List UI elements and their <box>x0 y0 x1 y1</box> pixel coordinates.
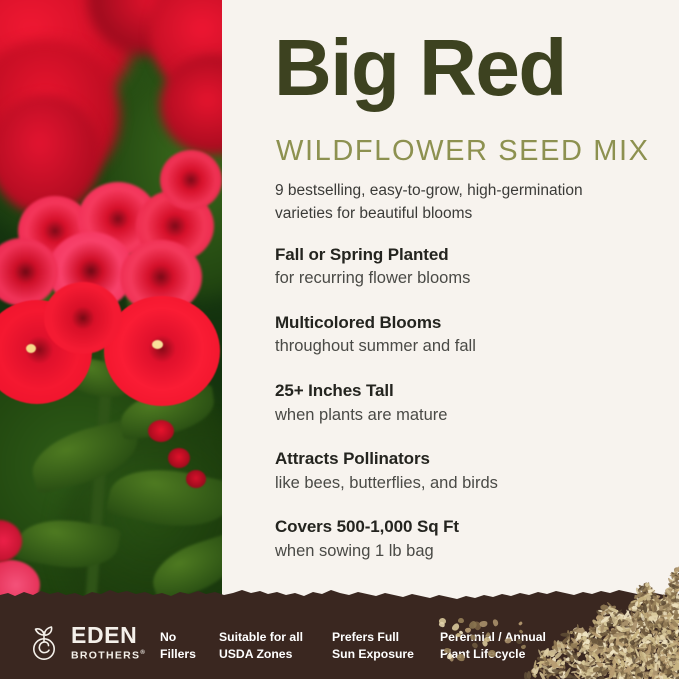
page-title: Big Red <box>274 28 566 108</box>
badge-line-2: USDA Zones <box>219 646 303 663</box>
logo-primary-text: EDEN <box>71 624 146 647</box>
feature-heading: Multicolored Blooms <box>275 312 655 334</box>
sprout-icon <box>24 622 64 662</box>
product-photo-phlox <box>0 0 222 610</box>
badge-line-1: Prefers Full <box>332 629 414 646</box>
feature-subtext: when plants are mature <box>275 404 655 426</box>
footer-badge-sun-exposure: Prefers Full Sun Exposure <box>332 629 414 663</box>
feature-list: Fall or Spring Planted for recurring flo… <box>275 244 655 562</box>
logo-wordmark: EDEN BROTHERS® <box>71 624 146 661</box>
seed-particle <box>674 585 679 589</box>
product-infographic: Big Red WILDFLOWER SEED MIX 9 bestsellin… <box>0 0 679 679</box>
seed-particle <box>629 674 633 679</box>
footer-badge-usda-zones: Suitable for all USDA Zones <box>219 629 303 663</box>
seed-particle <box>560 633 569 637</box>
product-description: 9 bestselling, easy-to-grow, high-germin… <box>275 180 625 226</box>
feature-heading: 25+ Inches Tall <box>275 380 655 402</box>
seed-particle-loose <box>520 644 526 650</box>
product-subtitle: WILDFLOWER SEED MIX <box>276 137 650 166</box>
eden-brothers-logo[interactable]: EDEN BROTHERS® <box>24 622 146 662</box>
seed-particle-loose <box>457 618 464 624</box>
feature-subtext: like bees, butterflies, and birds <box>275 472 655 494</box>
feature-item: Fall or Spring Planted for recurring flo… <box>275 244 655 290</box>
feature-item: Covers 500-1,000 Sq Ft when sowing 1 lb … <box>275 516 655 562</box>
feature-item: Multicolored Blooms throughout summer an… <box>275 312 655 358</box>
feature-heading: Fall or Spring Planted <box>275 244 655 266</box>
badge-line-2: Fillers <box>160 646 196 663</box>
feature-subtext: for recurring flower blooms <box>275 267 655 289</box>
feature-subtext: throughout summer and fall <box>275 335 655 357</box>
badge-line-2: Sun Exposure <box>332 646 414 663</box>
feature-heading: Covers 500-1,000 Sq Ft <box>275 516 655 538</box>
footer-badge-no-fillers: No Fillers <box>160 629 196 663</box>
feature-item: 25+ Inches Tall when plants are mature <box>275 380 655 426</box>
seed-mix-photo <box>523 559 679 679</box>
seed-particle <box>671 598 679 602</box>
seed-particle <box>636 672 642 676</box>
seed-particle-loose <box>456 633 461 637</box>
logo-secondary-text: BROTHERS® <box>71 650 146 661</box>
badge-line-1: No <box>160 629 196 646</box>
feature-item: Attracts Pollinators like bees, butterfl… <box>275 448 655 494</box>
feature-heading: Attracts Pollinators <box>275 448 655 470</box>
seed-particle <box>673 609 677 618</box>
seed-particle <box>631 609 636 611</box>
badge-line-1: Suitable for all <box>219 629 303 646</box>
